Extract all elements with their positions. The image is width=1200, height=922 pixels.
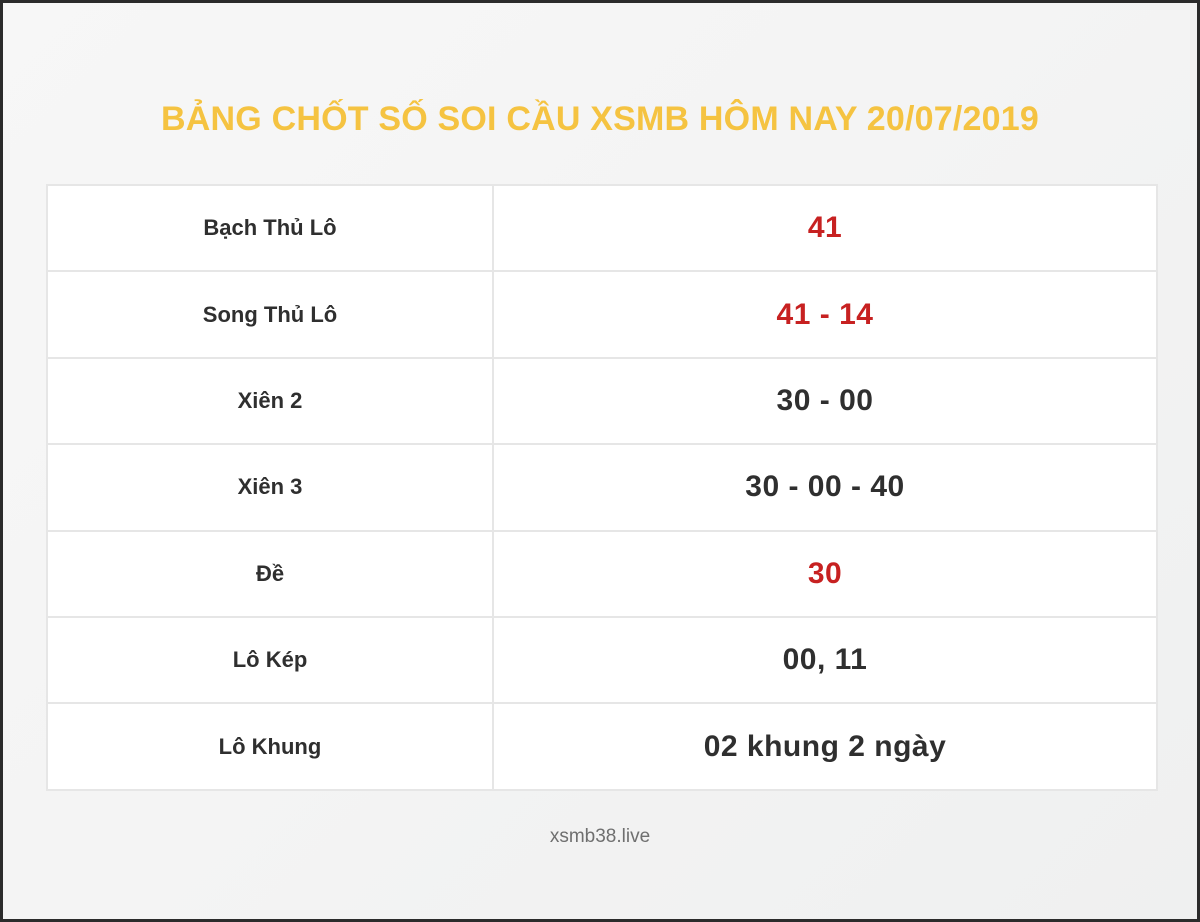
- table-row: Lô Kép 00, 11: [47, 617, 1157, 703]
- table-row: Bạch Thủ Lô 41: [47, 185, 1157, 271]
- row-label-xien-2: Xiên 2: [47, 358, 493, 444]
- row-label-bach-thu-lo: Bạch Thủ Lô: [47, 185, 493, 271]
- row-label-de: Đề: [47, 531, 493, 617]
- row-value-de: 30: [493, 531, 1157, 617]
- table-row: Xiên 3 30 - 00 - 40: [47, 444, 1157, 530]
- row-value-song-thu-lo: 41 - 14: [493, 271, 1157, 357]
- row-value-xien-3: 30 - 00 - 40: [493, 444, 1157, 530]
- screenshot-canvas: BẢNG CHỐT SỐ SOI CẦU XSMB HÔM NAY 20/07/…: [3, 3, 1197, 919]
- table-row: Đề 30: [47, 531, 1157, 617]
- prediction-table-body: Bạch Thủ Lô 41 Song Thủ Lô 41 - 14 Xiên …: [47, 185, 1157, 790]
- row-value-bach-thu-lo: 41: [493, 185, 1157, 271]
- prediction-table-container: Bạch Thủ Lô 41 Song Thủ Lô 41 - 14 Xiên …: [46, 184, 1158, 789]
- site-watermark: xsmb38.live: [3, 826, 1197, 848]
- prediction-table: Bạch Thủ Lô 41 Song Thủ Lô 41 - 14 Xiên …: [46, 184, 1158, 791]
- table-row: Xiên 2 30 - 00: [47, 358, 1157, 444]
- row-value-xien-2: 30 - 00: [493, 358, 1157, 444]
- row-label-lo-kep: Lô Kép: [47, 617, 493, 703]
- page-title: BẢNG CHỐT SỐ SOI CẦU XSMB HÔM NAY 20/07/…: [3, 100, 1197, 139]
- row-label-song-thu-lo: Song Thủ Lô: [47, 271, 493, 357]
- table-row: Lô Khung 02 khung 2 ngày: [47, 703, 1157, 789]
- row-label-lo-khung: Lô Khung: [47, 703, 493, 789]
- row-value-lo-kep: 00, 11: [493, 617, 1157, 703]
- table-row: Song Thủ Lô 41 - 14: [47, 271, 1157, 357]
- row-value-lo-khung: 02 khung 2 ngày: [493, 703, 1157, 789]
- row-label-xien-3: Xiên 3: [47, 444, 493, 530]
